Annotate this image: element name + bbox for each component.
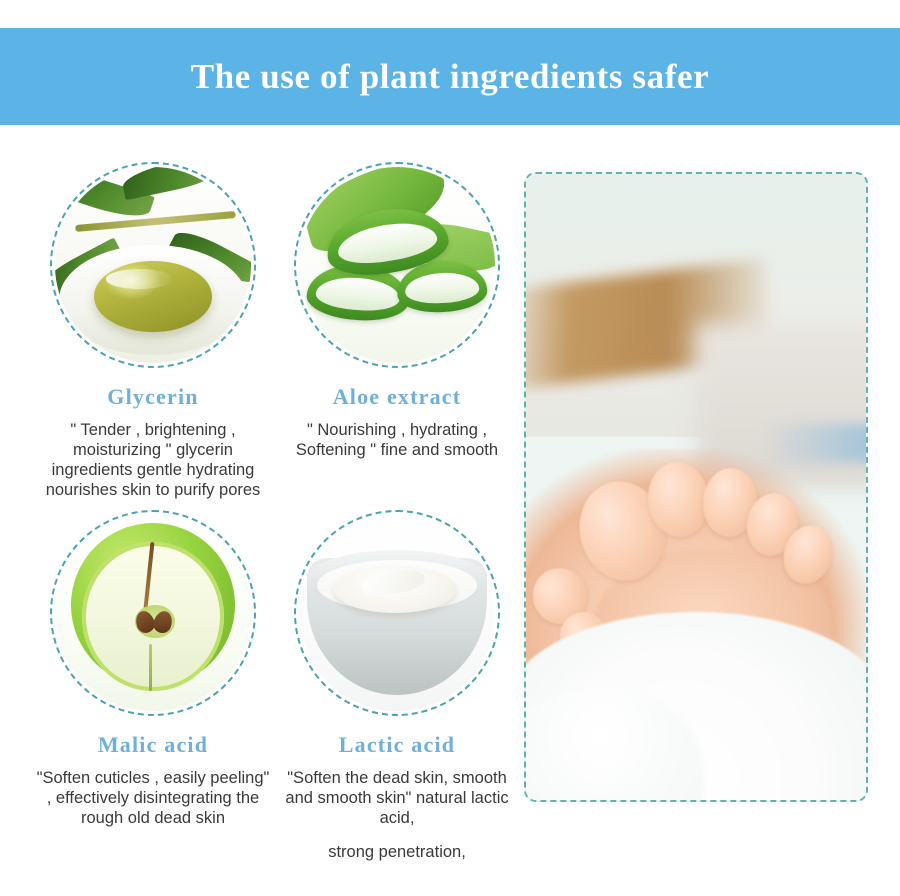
ingredient-description-malic-acid: "Soften cuticles , easily peeling" , eff… (34, 768, 272, 828)
ingredient-card-malic-acid: Malic acid "Soften cuticles , easily pee… (28, 510, 278, 828)
ingredient-title-malic-acid: Malic acid (28, 732, 278, 758)
ingredient-title-glycerin: Glycerin (28, 384, 278, 410)
ingredient-description-lactic-acid-extra: strong penetration, (278, 842, 516, 862)
glycerin-image-frame (50, 162, 256, 368)
ingredient-card-aloe-extract: Aloe extract " Nourishing , hydrating , … (272, 162, 522, 460)
ingredient-description-glycerin: " Tender , brightening , moisturizing " … (34, 420, 272, 501)
green-apple-halved-photo (55, 515, 251, 711)
ingredient-title-lactic-acid: Lactic acid (272, 732, 522, 758)
ingredient-card-lactic-acid: Lactic acid "Soften the dead skin, smoot… (272, 510, 522, 863)
malic-acid-image-frame (50, 510, 256, 716)
ingredient-description-aloe-extract: " Nourishing , hydrating , Softening " f… (278, 420, 516, 460)
ingredient-card-grid: Glycerin " Tender , brightening , moistu… (0, 150, 516, 896)
lactic-acid-image-frame (294, 510, 500, 716)
aloe-image-frame (294, 162, 500, 368)
page-title: The use of plant ingredients safer (191, 57, 710, 97)
cream-bowl-photo (299, 515, 495, 711)
ingredient-card-glycerin: Glycerin " Tender , brightening , moistu… (28, 162, 278, 501)
header-banner: The use of plant ingredients safer (0, 28, 900, 125)
hero-photo-frame (524, 172, 868, 802)
aloe-vera-slices-photo (299, 167, 495, 363)
olive-oil-photo (55, 167, 251, 363)
bare-feet-on-bed-photo (526, 174, 866, 800)
ingredient-description-lactic-acid: "Soften the dead skin, smooth and smooth… (278, 768, 516, 828)
ingredient-title-aloe-extract: Aloe extract (272, 384, 522, 410)
